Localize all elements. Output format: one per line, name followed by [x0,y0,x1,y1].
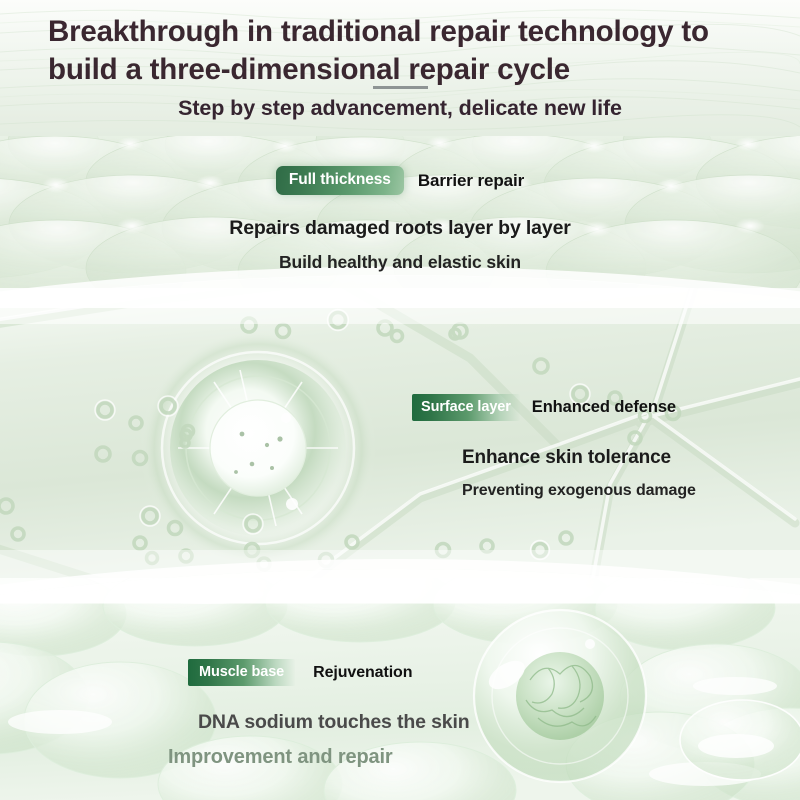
kicker-enhanced-defense: Enhanced defense [532,398,676,417]
kicker-barrier-repair: Barrier repair [418,171,524,191]
line-dna-sodium-touches-skin: DNA sodium touches the skin [198,711,470,734]
line-build-healthy-skin: Build healthy and elastic skin [0,252,800,273]
kicker-rejuvenation: Rejuvenation [313,664,412,682]
product-infographic-poster: Breakthrough in traditional repair techn… [0,0,800,800]
badge-row-surface-layer: Surface layer Enhanced defense [412,394,696,421]
line-enhance-skin-tolerance: Enhance skin tolerance [462,447,696,469]
title-divider [373,86,428,89]
badge-surface-layer: Surface layer [412,394,520,421]
poster-header: Breakthrough in traditional repair techn… [0,0,800,136]
page-subtitle: Step by step advancement, delicate new l… [0,96,800,121]
line-preventing-exogenous-damage: Preventing exogenous damage [462,482,696,500]
badge-row-full-thickness: Full thickness Barrier repair [0,166,800,195]
badge-muscle-base: Muscle base [188,659,295,686]
page-title: Breakthrough in traditional repair techn… [0,0,748,89]
section-muscle-base-text: Muscle base Rejuvenation DNA sodium touc… [188,659,470,769]
section-surface-layer-text: Surface layer Enhanced defense Enhance s… [412,394,696,500]
title-block: Breakthrough in traditional repair techn… [0,0,800,89]
line-repairs-damaged-roots: Repairs damaged roots layer by layer [0,217,800,240]
hero-gel-sphere [474,610,646,782]
line-improvement-and-repair: Improvement and repair [168,746,470,769]
badge-full-thickness: Full thickness [276,166,404,195]
section-full-thickness-text: Full thickness Barrier repair Repairs da… [0,166,800,273]
badge-row-muscle-base: Muscle base Rejuvenation [188,659,470,686]
